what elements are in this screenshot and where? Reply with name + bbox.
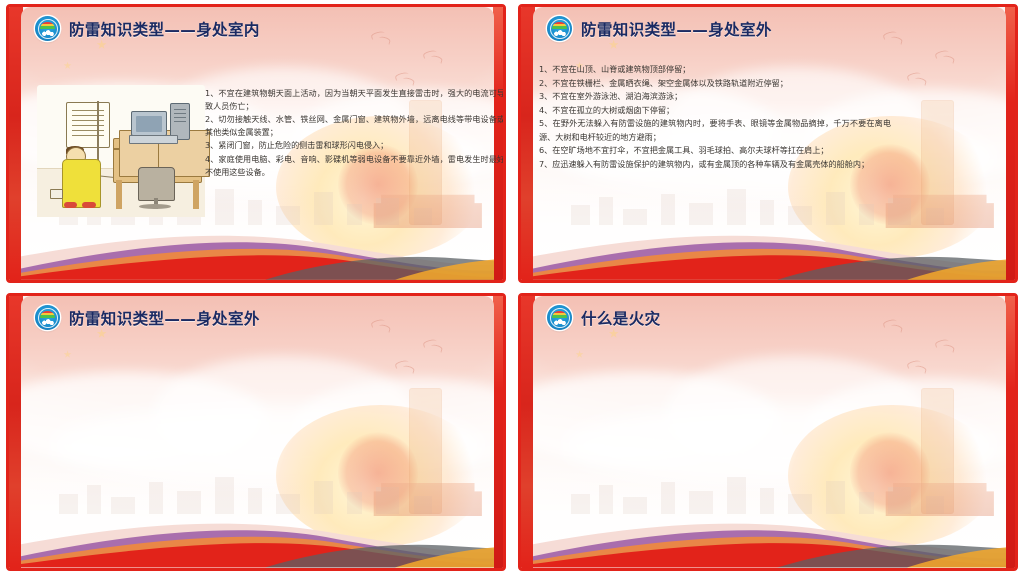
star-decoration	[576, 350, 584, 358]
bottom-wave-decoration	[21, 505, 494, 568]
body-paragraph: 3、不宜在室外游泳池、湖泊海滨游泳；	[539, 90, 1018, 104]
prevention-safety-emblem-icon	[547, 305, 572, 330]
slide-header: 防雷知识类型——身处室外	[547, 16, 772, 41]
star-decoration	[64, 62, 72, 70]
body-paragraph: 7、应迅速躲入有防雷设施保护的建筑物内，或有金属顶的各种车辆及有金属壳体的船舱内…	[539, 158, 907, 172]
slide-body-text: 1、不宜在山顶、山脊或建筑物顶部停留； 2、不宜在铁栅栏、金属晒衣绳、架空金属体…	[539, 63, 1018, 171]
body-paragraph: 4、家庭使用电脑、彩电、音响、影碟机等弱电设备不要靠近外墙，雷电发生时最好不使用…	[205, 153, 505, 179]
prevention-safety-emblem-icon	[35, 305, 60, 330]
star-decoration	[609, 40, 619, 50]
body-paragraph: 1、不宜在建筑物朝天面上活动，因为当朝天平面发生直接雷击时，强大的电流可导致人员…	[205, 87, 505, 113]
bottom-wave-decoration	[533, 505, 1006, 568]
slide-3[interactable]: 防雷知识类型——身处室外 雷雨天要关好门窗。	[0, 289, 512, 577]
slide-frame: 防雷知识类型——身处室内 1、不宜在建筑物朝天面上活动，因为当朝天平面发生直接雷…	[6, 4, 506, 283]
bottom-wave-decoration	[21, 217, 494, 280]
slide-title: 防雷知识类型——身处室外	[69, 307, 260, 329]
bottom-wave-decoration	[533, 217, 1006, 280]
slide-4[interactable]: 什么是火灾 火灾（huǒzāi）是指在时间或空间上失去控制的燃烧所造成的灾害。新…	[512, 289, 1024, 577]
slide-canvas	[533, 296, 1006, 568]
slide-frame: 防雷知识类型——身处室外 1、不宜在山顶、山脊或建筑物顶部停留； 2、不宜在铁栅…	[518, 4, 1018, 283]
dove-icon	[423, 51, 437, 63]
body-paragraph: 2、不宜在铁栅栏、金属晒衣绳、架空金属体以及铁路轨道附近停留；	[539, 77, 1018, 91]
slide-canvas	[21, 296, 494, 568]
dove-icon	[395, 361, 409, 373]
office-computer-desk-illustration	[37, 85, 205, 217]
star-decoration	[609, 329, 619, 339]
body-paragraph: 1、不宜在山顶、山脊或建筑物顶部停留；	[539, 63, 1018, 77]
prevention-safety-emblem-icon	[35, 16, 60, 41]
right-red-band	[493, 296, 503, 568]
dove-icon	[883, 32, 897, 44]
dove-icon	[395, 73, 409, 85]
slide-2[interactable]: 防雷知识类型——身处室外 1、不宜在山顶、山脊或建筑物顶部停留； 2、不宜在铁栅…	[512, 0, 1024, 289]
body-paragraph: 6、在空旷场地不宜打伞，不宜把金属工具、羽毛球拍、高尔夫球杆等扛在肩上；	[539, 144, 891, 158]
dove-icon	[907, 361, 921, 373]
dove-icon	[371, 32, 385, 44]
slide-frame: 防雷知识类型——身处室外 雷雨天要关好门窗。	[6, 293, 506, 571]
slide-header: 防雷知识类型——身处室内	[35, 16, 260, 41]
body-paragraph: 2、切勿接触天线、水管、铁丝网、金属门窗、建筑物外墙，远离电线等带电设备或其他类…	[205, 113, 505, 139]
slide-title: 防雷知识类型——身处室外	[581, 18, 772, 40]
star-decoration	[97, 329, 107, 339]
dove-icon	[423, 340, 437, 352]
slide-title: 什么是火灾	[581, 307, 661, 329]
slide-frame: 什么是火灾 火灾（huǒzāi）是指在时间或空间上失去控制的燃烧所造成的灾害。新…	[518, 293, 1018, 571]
star-decoration	[64, 350, 72, 358]
slide-header: 防雷知识类型——身处室外	[35, 305, 260, 330]
slide-1[interactable]: 防雷知识类型——身处室内 1、不宜在建筑物朝天面上活动，因为当朝天平面发生直接雷…	[0, 0, 512, 289]
dove-icon	[883, 320, 897, 332]
right-red-band	[1005, 296, 1015, 568]
dove-icon	[935, 51, 949, 63]
dove-icon	[371, 320, 385, 332]
prevention-safety-emblem-icon	[547, 16, 572, 41]
body-paragraph: 3、紧闭门窗，防止危险的侧击雷和球形闪电侵入；	[205, 139, 505, 152]
slide-body-text: 1、不宜在建筑物朝天面上活动，因为当朝天平面发生直接雷击时，强大的电流可导致人员…	[205, 87, 505, 179]
slide-header: 什么是火灾	[547, 305, 661, 330]
slide-grid: 防雷知识类型——身处室内 1、不宜在建筑物朝天面上活动，因为当朝天平面发生直接雷…	[0, 0, 1024, 577]
body-paragraph: 4、不宜在孤立的大树或烟囱下停留；	[539, 104, 1018, 118]
slide-title: 防雷知识类型——身处室内	[69, 18, 260, 40]
star-decoration	[97, 40, 107, 50]
body-paragraph: 5、在野外无法躲入有防雷设施的建筑物内时，要将手表、眼镜等金属物品摘掉，千万不要…	[539, 117, 891, 144]
dove-icon	[935, 340, 949, 352]
